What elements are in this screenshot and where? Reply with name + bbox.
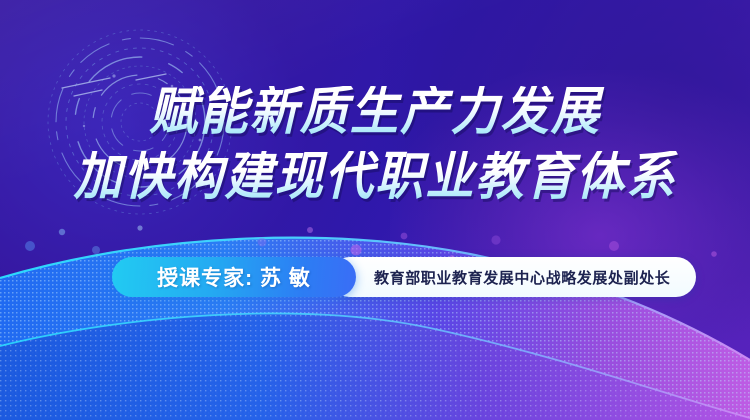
tech-ring-icon bbox=[40, 22, 240, 222]
title-line-2: 加快构建现代职业教育体系 bbox=[26, 151, 724, 203]
banner-title: 赋能新质生产力发展 加快构建现代职业教育体系 bbox=[0, 86, 750, 203]
speaker-affiliation-label: 教育部职业教育发展中心战略发展处副处长 bbox=[374, 267, 670, 288]
background-glow-left bbox=[0, 0, 400, 390]
speaker-name-pill: 授课专家: 苏 敏 bbox=[112, 257, 356, 297]
title-line-1: 赋能新质生产力发展 bbox=[26, 86, 724, 138]
background-diagonal-sheen bbox=[0, 0, 750, 420]
speaker-name-label: 授课专家: 苏 敏 bbox=[157, 262, 311, 292]
speaker-bar: 授课专家: 苏 敏 教育部职业教育发展中心战略发展处副处长 bbox=[112, 257, 696, 297]
background-glow-magenta bbox=[390, 70, 750, 400]
promo-banner: 赋能新质生产力发展 加快构建现代职业教育体系 授课专家: 苏 敏 教育部职业教育… bbox=[0, 0, 750, 420]
speaker-affiliation-bar: 教育部职业教育发展中心战略发展处副处长 bbox=[330, 257, 696, 297]
particle-wave-icon bbox=[0, 220, 750, 420]
